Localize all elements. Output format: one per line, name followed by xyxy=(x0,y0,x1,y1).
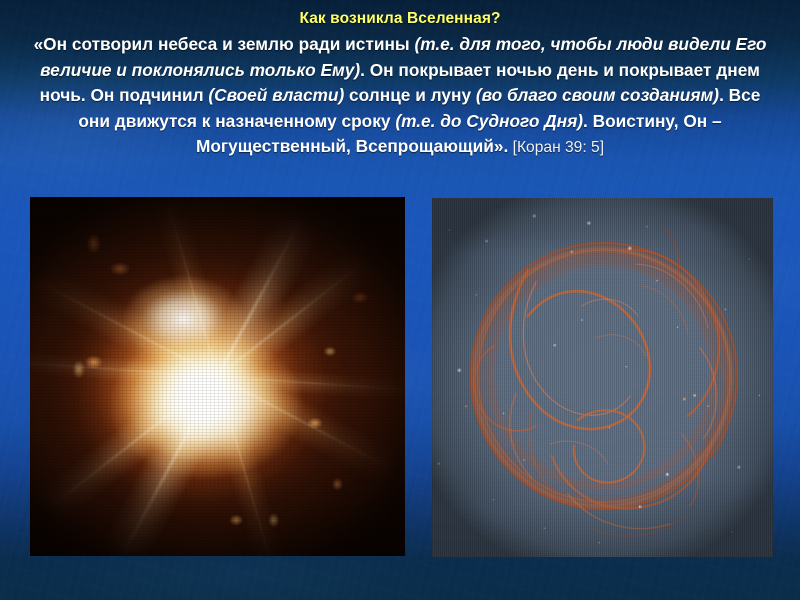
slide-canvas: Как возникла Вселенная? «Он сотворил неб… xyxy=(0,0,800,600)
supernova-remnant-photo xyxy=(432,198,773,557)
quote-source-reference: [Коран 39: 5] xyxy=(508,139,604,156)
slide-text-block: Как возникла Вселенная? «Он сотворил неб… xyxy=(0,9,800,161)
quote-italic-3: (во благо своим созданиям) xyxy=(476,85,719,105)
quote-paragraph: «Он сотворил небеса и землю ради истины … xyxy=(0,32,800,161)
supernova-vignette xyxy=(432,198,773,557)
quote-open-text: «Он сотворил небеса и землю ради истины xyxy=(34,34,415,54)
page-title: Как возникла Вселенная? xyxy=(0,9,800,29)
starburst-vignette xyxy=(30,197,405,556)
quote-italic-4: (т.е. до Судного Дня) xyxy=(395,111,583,131)
quote-plain-2: солнце и луну xyxy=(344,85,476,105)
starburst-photo xyxy=(30,197,405,556)
quote-italic-2: (Своей власти) xyxy=(208,85,344,105)
